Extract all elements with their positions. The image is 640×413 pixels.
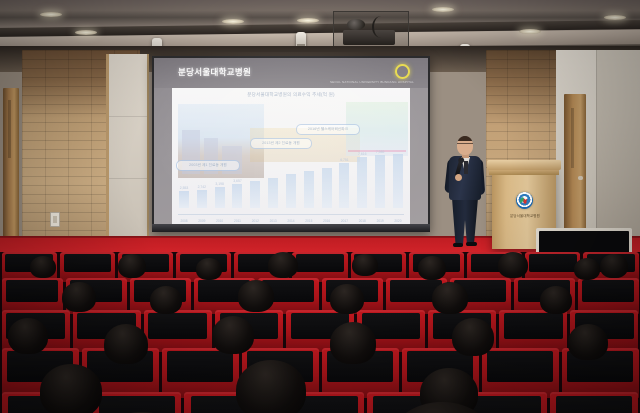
auditorium-seat <box>482 348 559 398</box>
hospital-ring-logo-icon <box>395 64 410 79</box>
chart-bar-value: 3,198 <box>215 182 224 186</box>
chart-bar-rect <box>250 181 260 208</box>
chart-bar: 3,198 <box>214 134 226 208</box>
chart-bar-value: 7,989 <box>376 150 385 154</box>
audience-member <box>330 322 376 364</box>
chart-x-tick: 2008 <box>178 219 190 223</box>
audience-member <box>568 324 608 360</box>
ceiling-downlight <box>222 19 244 24</box>
auditorium-seat <box>162 348 239 398</box>
chart-bar <box>392 134 404 208</box>
presenter-hand <box>455 174 462 181</box>
wall-panel-left <box>106 54 149 239</box>
left-exit-door[interactable] <box>3 88 19 238</box>
chart-bar-value: 3,657 <box>233 179 242 183</box>
chart-bar-value: 2,742 <box>198 185 207 189</box>
chart-x-tick: 2009 <box>196 219 208 223</box>
audience-member <box>498 252 528 278</box>
hospital-emblem-icon <box>516 192 533 209</box>
ceiling-downlight <box>519 29 541 34</box>
auditorium-seat <box>2 278 63 314</box>
audience-member <box>212 316 254 354</box>
presenter-legs <box>452 198 478 246</box>
chart-bar <box>267 134 279 208</box>
auditorium-seat <box>144 310 212 352</box>
presentation-slide: 분당서울대학교병원 SEOUL NATIONAL UNIVERSITY BUND… <box>154 58 428 224</box>
chart-bar-rect <box>179 191 189 208</box>
projector-lens-icon <box>347 19 365 30</box>
audience-member <box>104 324 148 364</box>
audience-member <box>600 254 628 278</box>
chart-bar <box>249 134 261 208</box>
auditorium-seat <box>578 278 639 314</box>
chart-bar-rect <box>215 187 225 208</box>
chart-bar: 7,989 <box>374 134 386 208</box>
chart-x-tick: 2011 <box>231 219 243 223</box>
podium-lip <box>489 170 559 175</box>
chart-title: 분당서울대학교병원의 의료수익 추세(억 원) <box>172 92 410 98</box>
chart-bar-value: 7,616 <box>358 152 367 156</box>
slide-header-subtitle: SEOUL NATIONAL UNIVERSITY BUNDANG HOSPIT… <box>330 80 414 84</box>
audience-member <box>540 286 572 314</box>
wall-light-switch[interactable] <box>50 212 60 227</box>
audience-member <box>452 318 494 356</box>
audience-member <box>330 284 364 314</box>
projection-screen: 분당서울대학교병원 SEOUL NATIONAL UNIVERSITY BUND… <box>152 56 430 232</box>
auditorium-scene: 분당서울대학교병원 SEOUL NATIONAL UNIVERSITY BUND… <box>0 0 640 413</box>
chart-x-tick: 2010 <box>214 219 226 223</box>
audience-member <box>574 258 600 280</box>
chart-x-tick: 2012 <box>249 219 261 223</box>
chart-bar-rect <box>375 155 385 208</box>
ceiling-downlight <box>604 15 626 20</box>
chart-x-tick: 2016 <box>321 219 333 223</box>
chart-bar-rect <box>268 178 278 208</box>
audience-member <box>238 280 274 312</box>
chart-bar: 2,553 <box>178 134 190 208</box>
audience-seating <box>0 252 640 413</box>
presenter-shoe <box>453 243 463 247</box>
chart-bar-rect <box>322 168 332 208</box>
chart-bar-rect <box>232 184 242 208</box>
chart-bar-rect <box>339 163 349 208</box>
chart-bar: 2,742 <box>196 134 208 208</box>
ceiling-downlight <box>75 30 97 35</box>
chart-x-tick: 2018 <box>356 219 368 223</box>
audience-member <box>62 282 96 312</box>
podium-top <box>487 160 561 170</box>
presenter-tie <box>464 161 468 174</box>
door-handle-icon[interactable] <box>578 176 583 180</box>
chart-x-tick: 2020 <box>392 219 404 223</box>
audience-member <box>8 318 48 354</box>
screen-surface: 분당서울대학교병원 SEOUL NATIONAL UNIVERSITY BUND… <box>154 58 428 224</box>
auditorium-seat <box>93 392 181 413</box>
presenter <box>444 136 486 248</box>
chart-bar <box>321 134 333 208</box>
slide-header: 분당서울대학교병원 SEOUL NATIONAL UNIVERSITY BUND… <box>154 58 428 88</box>
audience-member <box>118 254 146 278</box>
ceiling-downlight <box>432 7 454 12</box>
chart-x-tick-labels: 2008200920102011201220132014201520162017… <box>178 219 404 223</box>
audience-member <box>196 258 222 280</box>
chart-bar-value: 6,751 <box>340 158 349 162</box>
chart-bar-rect <box>357 157 367 208</box>
ceiling-downlight <box>40 12 62 17</box>
audience-member <box>150 286 182 314</box>
screen-bottom-bar <box>152 224 430 232</box>
chart-x-tick: 2014 <box>285 219 297 223</box>
ceiling-downlight <box>297 18 319 23</box>
chart-bar: 7,616 <box>356 134 368 208</box>
podium-label: 분당서울대학교병원 <box>505 213 545 218</box>
audience-member <box>40 364 102 413</box>
chart-bar: 3,657 <box>231 134 243 208</box>
audience-member <box>432 282 468 314</box>
audience-member <box>268 252 298 278</box>
chart-bar <box>303 134 315 208</box>
chart-bar-rect <box>304 171 314 208</box>
audience-member <box>236 360 306 413</box>
audience-member <box>418 256 446 280</box>
glasses-icon <box>457 143 473 147</box>
seat-row <box>0 310 640 352</box>
presenter-shoe <box>466 242 477 246</box>
auditorium-seat <box>550 392 638 413</box>
slide-body: 분당서울대학교병원의 의료수익 추세(억 원) 2003년 제1 진료동 개원 … <box>172 88 410 224</box>
chart-x-tick: 2013 <box>267 219 279 223</box>
chart-bar <box>285 134 297 208</box>
projector-cable <box>372 16 390 38</box>
right-exit-door[interactable] <box>564 94 586 242</box>
wall-panel-far-right <box>596 50 640 242</box>
chart-x-tick: 2015 <box>303 219 315 223</box>
chart-bar-rect <box>197 190 207 208</box>
audience-member <box>352 254 378 276</box>
chart-bar-value: 2,553 <box>180 186 189 190</box>
chart-bar: 6,751 <box>338 134 350 208</box>
chart-x-tick: 2019 <box>374 219 386 223</box>
chart-bars: 2,5532,7423,1983,6576,7517,6167,989 <box>178 134 404 208</box>
chart-x-tick: 2017 <box>338 219 350 223</box>
chart-x-axis <box>178 214 404 215</box>
slide-header-title: 분당서울대학교병원 <box>178 66 251 78</box>
audience-member <box>30 256 56 278</box>
auditorium-seat <box>499 310 567 352</box>
chart-bar-rect <box>393 154 403 208</box>
chart-bar-rect <box>286 174 296 208</box>
